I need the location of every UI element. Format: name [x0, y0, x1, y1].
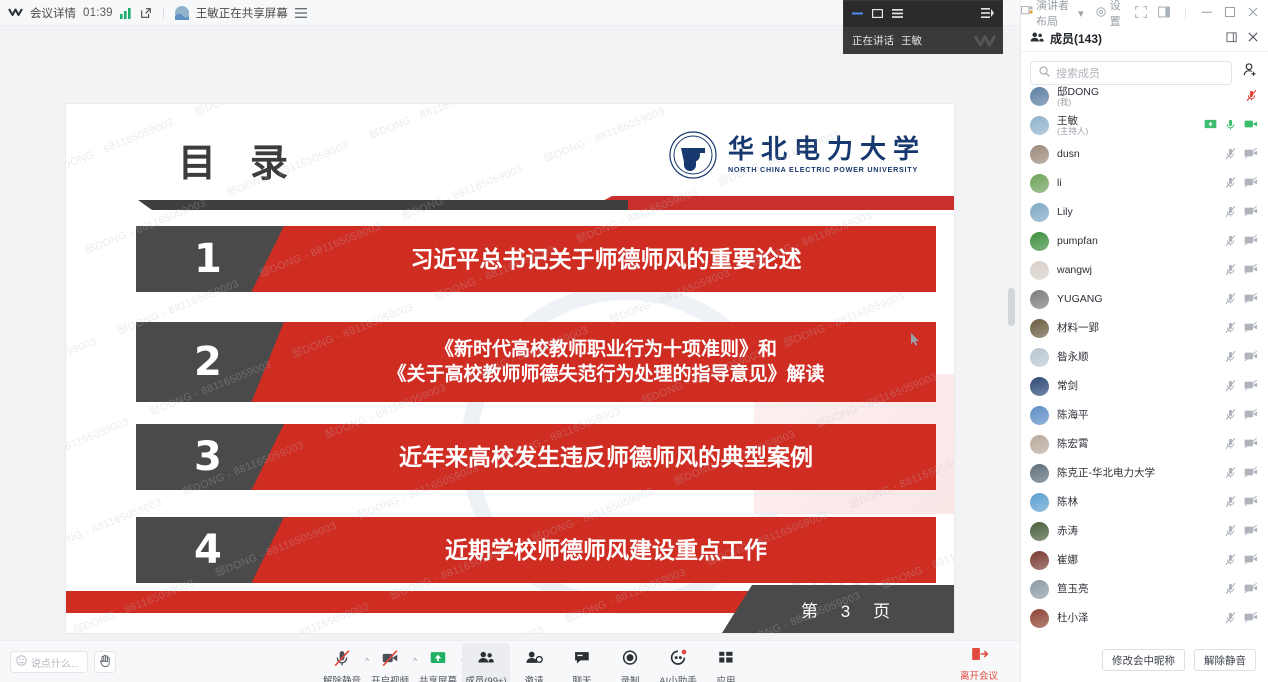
participant-row[interactable]: YUGANG [1021, 285, 1268, 314]
camera-icon[interactable] [1244, 379, 1258, 394]
microphone-icon[interactable] [1224, 495, 1237, 511]
participant-name: li [1057, 177, 1062, 189]
camera-icon[interactable] [1244, 466, 1258, 481]
tool-record-label: 录制 [620, 673, 639, 682]
participant-status-icons [1224, 495, 1258, 511]
speaking-status-label: 正在讲话 [852, 33, 894, 48]
participant-row[interactable]: 陈克正-华北电力大学 [1021, 459, 1268, 488]
maximize-icon[interactable] [872, 7, 883, 21]
raise-hand-icon [99, 654, 111, 670]
title-underline-dark [138, 200, 628, 210]
toc-item-2: 《新时代高校教师职业行为十项准则》和 《关于高校教师师德失范行为处理的指导意见》… [136, 322, 936, 402]
unmute-button[interactable]: 解除静音 [1194, 649, 1256, 671]
leave-meeting-button[interactable]: 离开会议 [952, 645, 1006, 682]
participant-name: 邸DONG [1057, 86, 1099, 98]
camera-icon[interactable] [1244, 176, 1258, 191]
participant-name-block: Lily [1057, 206, 1073, 218]
settings-button[interactable]: 设置 [1095, 0, 1125, 29]
participant-status-icons [1245, 89, 1258, 105]
participant-name-block: YUGANG [1057, 293, 1103, 305]
camera-off-icon [380, 648, 400, 671]
say-something-placeholder: 说点什么... [31, 655, 79, 670]
microphone-icon[interactable] [1224, 582, 1237, 598]
title-underline-red [586, 196, 954, 210]
record-circle-icon [620, 648, 640, 671]
participant-status-icons [1224, 611, 1258, 627]
floating-speaker-window[interactable]: 正在讲话 王敏 [843, 0, 1003, 54]
participant-status-icons [1224, 147, 1258, 163]
participant-status-icons [1224, 205, 1258, 221]
tool-apps-label: 应用 [716, 673, 735, 682]
avatar [1030, 435, 1049, 454]
microphone-icon[interactable] [1224, 234, 1237, 250]
avatar [1030, 203, 1049, 222]
side-panel-icon[interactable] [1158, 6, 1170, 21]
speaker-layout-label: 演讲者布局 [1036, 0, 1075, 29]
participant-name: 材料一郢 [1057, 322, 1099, 334]
participant-status-icons [1224, 263, 1258, 279]
participant-name-block: 崔娜 [1057, 554, 1078, 566]
slide-title: 目录 [178, 132, 322, 187]
participant-name: Lily [1057, 206, 1073, 218]
participant-status-icons [1204, 118, 1258, 134]
participant-name-block: 邸DONG(我) [1057, 86, 1099, 108]
microphone-icon[interactable] [1224, 292, 1237, 308]
microphone-icon[interactable] [1224, 611, 1237, 627]
camera-icon[interactable] [1244, 611, 1258, 626]
participant-status-icons [1224, 553, 1258, 569]
camera-icon[interactable] [1244, 495, 1258, 510]
participant-name: 笪玉亮 [1057, 583, 1089, 595]
participant-name-block: dusn [1057, 148, 1080, 160]
participant-name-block: 杜小泽 [1057, 612, 1089, 624]
participant-status-icons [1224, 234, 1258, 250]
microphone-icon[interactable] [1224, 321, 1237, 337]
toc-item-1-bar: 习近平总书记关于师德师风的重要论述 [246, 226, 936, 292]
participant-name: 常剑 [1057, 380, 1078, 392]
participant-row[interactable]: 杜小泽 [1021, 604, 1268, 633]
avatar-icon [175, 6, 189, 20]
smiley-icon [16, 655, 27, 669]
tool-invite[interactable]: 邀请 [510, 643, 558, 682]
microphone-icon[interactable] [1224, 408, 1237, 424]
meeting-timer: 01:39 [83, 7, 113, 19]
participant-name: 陈林 [1057, 496, 1078, 508]
toc-item-1-line-1: 习近平总书记关于师德师风的重要论述 [411, 244, 802, 274]
chat-bubble-icon [572, 648, 592, 671]
microphone-icon[interactable] [1224, 176, 1237, 192]
avatar [1030, 609, 1049, 628]
search-icon [1039, 66, 1050, 80]
screen-share-icon [428, 648, 448, 671]
camera-icon[interactable] [1244, 553, 1258, 568]
toc-item-1: 习近平总书记关于师德师风的重要论述 1 [136, 226, 936, 292]
presentation-slide[interactable]: 1958 目录 华北电力大学 NORTH CHINA ELECTRIC POWE… [66, 104, 954, 633]
university-name-en: NORTH CHINA ELECTRIC POWER UNIVERSITY [728, 165, 926, 174]
toc-item-2-line-1: 《新时代高校教师职业行为十项准则》和 [435, 337, 777, 362]
tencent-meeting-icon [974, 32, 996, 51]
avatar [1030, 580, 1049, 599]
tool-ai-assistant[interactable]: AI小助手 [654, 643, 702, 682]
say-something-input[interactable]: 说点什么... [10, 651, 88, 673]
avatar [1030, 145, 1049, 164]
camera-icon[interactable] [1244, 292, 1258, 307]
camera-icon[interactable] [1244, 118, 1258, 133]
participants-list[interactable]: 邸DONG(我)王敏(主持人)dusnliLilypumpfanwangwjYU… [1021, 82, 1268, 638]
participant-status-icons [1224, 292, 1258, 308]
window-divider [1185, 7, 1186, 19]
shared-screen-stage: 1958 目录 华北电力大学 NORTH CHINA ELECTRIC POWE… [0, 26, 1020, 640]
avatar [1030, 493, 1049, 512]
toc-item-2-line-2: 《关于高校教师师德失范行为处理的指导意见》解读 [387, 362, 824, 387]
popout-panel-icon[interactable] [1226, 31, 1238, 46]
participant-status-icons [1224, 408, 1258, 424]
participant-name-block: 赤涛 [1057, 525, 1078, 537]
avatar [1030, 290, 1049, 309]
participants-count-title: 成员(143) [1050, 30, 1102, 47]
microphone-icon[interactable] [1224, 118, 1237, 134]
camera-icon[interactable] [1244, 321, 1258, 336]
slide-page-number: 第 3 页 [722, 585, 954, 633]
participant-name: 陈克正-华北电力大学 [1057, 467, 1155, 479]
meeting-bottom-toolbar: 说点什么... 解除静音 ^ 开启视频 ^ 共享屏幕 [0, 640, 1020, 682]
avatar [1030, 319, 1049, 338]
avatar [1030, 261, 1049, 280]
microphone-icon[interactable] [1224, 466, 1237, 482]
participant-role: (我) [1057, 98, 1099, 108]
participant-row[interactable]: 陈海平 [1021, 401, 1268, 430]
search-placeholder: 搜索成员 [1056, 65, 1100, 81]
participant-row[interactable]: li [1021, 169, 1268, 198]
tool-ai-assistant-label: AI小助手 [659, 673, 696, 682]
leave-meeting-icon [970, 645, 989, 666]
avatar [1030, 406, 1049, 425]
participant-row[interactable]: 王敏(主持人) [1021, 111, 1268, 140]
participant-name-block: 笪玉亮 [1057, 583, 1089, 595]
rename-button[interactable]: 修改会中昵称 [1102, 649, 1185, 671]
camera-icon[interactable] [1244, 582, 1258, 597]
tool-chat[interactable]: 聊天 [558, 643, 606, 682]
tool-unmute[interactable]: 解除静音 ^ [318, 643, 366, 682]
avatar [1030, 87, 1049, 106]
leave-meeting-label: 离开会议 [960, 668, 998, 682]
avatar [1030, 348, 1049, 367]
avatar [1030, 232, 1049, 251]
stage-scrollbar[interactable] [1008, 288, 1015, 326]
camera-icon[interactable] [1244, 408, 1258, 423]
list-menu-icon[interactable] [295, 8, 307, 18]
participant-name: 陈宏霄 [1057, 438, 1089, 450]
participant-status-icons [1224, 176, 1258, 192]
participant-name: 赤涛 [1057, 525, 1078, 537]
participant-status-icons [1224, 350, 1258, 366]
participant-name: dusn [1057, 148, 1080, 160]
participant-name-block: wangwj [1057, 264, 1092, 276]
participant-status-icons [1224, 466, 1258, 482]
tool-invite-label: 邀请 [524, 673, 543, 682]
apps-grid-icon [716, 648, 736, 671]
microphone-icon[interactable] [1224, 524, 1237, 540]
microphone-icon[interactable] [1224, 553, 1237, 569]
participant-name-block: 陈宏霄 [1057, 438, 1089, 450]
toc-item-4-bar: 近期学校师德师风建设重点工作 [246, 517, 936, 583]
microphone-icon[interactable] [1224, 205, 1237, 221]
camera-icon[interactable] [1244, 350, 1258, 365]
participant-name-block: 陈克正-华北电力大学 [1057, 467, 1155, 479]
participant-row[interactable]: dusn [1021, 140, 1268, 169]
participant-row[interactable]: 赤涛 [1021, 517, 1268, 546]
participant-name-block: 王敏(主持人) [1057, 115, 1088, 137]
participant-status-icons [1224, 582, 1258, 598]
layout-switch-icon[interactable] [981, 7, 994, 21]
close-icon[interactable] [1247, 31, 1259, 46]
participant-name-block: 陈海平 [1057, 409, 1089, 421]
camera-icon[interactable] [1244, 437, 1258, 452]
participant-row[interactable]: wangwj [1021, 256, 1268, 285]
floating-window-titlebar [844, 1, 1002, 27]
participant-name: YUGANG [1057, 293, 1103, 305]
raise-hand-button[interactable] [94, 651, 116, 673]
add-person-icon[interactable] [1243, 62, 1258, 80]
participant-row[interactable]: 笪玉亮 [1021, 575, 1268, 604]
ncepu-crest-icon [668, 130, 718, 180]
participant-name-block: 昝永顺 [1057, 351, 1089, 363]
participants-panel-header: 成员(143) [1021, 26, 1268, 52]
participant-row[interactable]: 材料一郢 [1021, 314, 1268, 343]
participant-name: 昝永顺 [1057, 351, 1089, 363]
tencent-meeting-icon [8, 7, 23, 18]
toc-item-4-line-1: 近期学校师德师风建设重点工作 [445, 535, 767, 565]
tool-participants-label: 成员(99+) [465, 673, 506, 682]
mouse-cursor [911, 333, 920, 349]
toc-item-3-line-1: 近年来高校发生违反师德师风的典型案例 [399, 442, 813, 472]
participant-name-block: 材料一郢 [1057, 322, 1099, 334]
toc-item-3-bar: 近年来高校发生违反师德师风的典型案例 [246, 424, 936, 490]
sharing-status-label: 王敏正在共享屏幕 [196, 5, 288, 21]
participant-row[interactable]: 常剑 [1021, 372, 1268, 401]
participants-icon [476, 648, 496, 671]
participant-name: 陈海平 [1057, 409, 1089, 421]
participant-name: wangwj [1057, 264, 1092, 276]
participant-name-block: 陈林 [1057, 496, 1078, 508]
participants-panel: 演讲者布局 ▾ 设置 成员(143) [1020, 0, 1268, 682]
microphone-icon[interactable] [1224, 379, 1237, 395]
microphone-icon[interactable] [1224, 350, 1237, 366]
meeting-controls: 解除静音 ^ 开启视频 ^ 共享屏幕 ^ 成员(99+) [318, 643, 750, 682]
signal-bars-icon[interactable] [120, 7, 133, 19]
tool-start-video[interactable]: 开启视频 ^ [366, 643, 414, 682]
participant-status-icons [1224, 524, 1258, 540]
invite-person-icon [524, 648, 544, 671]
minimize-icon[interactable] [852, 7, 863, 21]
microphone-icon[interactable] [1224, 437, 1237, 453]
participant-row[interactable]: pumpfan [1021, 227, 1268, 256]
participant-row[interactable]: Lily [1021, 198, 1268, 227]
avatar [1030, 551, 1049, 570]
ai-assistant-icon [668, 648, 688, 671]
participant-name-block: li [1057, 177, 1062, 189]
hamburger-icon[interactable] [892, 7, 903, 21]
speaker-layout-icon [1021, 6, 1033, 20]
gear-icon [1095, 6, 1107, 21]
topbar-divider [163, 7, 164, 19]
meeting-details-label[interactable]: 会议详情 [30, 5, 76, 21]
camera-icon[interactable] [1244, 524, 1258, 539]
tool-record[interactable]: 录制 [606, 643, 654, 682]
camera-icon[interactable] [1244, 263, 1258, 278]
participant-name-block: pumpfan [1057, 235, 1098, 247]
participant-row[interactable]: 陈林 [1021, 488, 1268, 517]
participant-status-icons [1224, 321, 1258, 337]
window-control-bar: 演讲者布局 ▾ 设置 [1021, 0, 1268, 26]
camera-icon[interactable] [1244, 147, 1258, 162]
window-close-icon[interactable] [1247, 6, 1259, 21]
window-maximize-icon[interactable] [1224, 6, 1236, 21]
tool-share-screen[interactable]: 共享屏幕 ^ [414, 643, 462, 682]
tool-participants[interactable]: 成员(99+) [462, 643, 510, 682]
avatar [1030, 116, 1049, 135]
tool-unmute-label: 解除静音 [323, 673, 361, 682]
toc-item-3: 近年来高校发生违反师德师风的典型案例 3 [136, 424, 936, 490]
participant-name: 王敏 [1057, 115, 1088, 127]
fullscreen-icon[interactable] [1135, 6, 1147, 21]
camera-icon[interactable] [1244, 205, 1258, 220]
microphone-icon[interactable] [1224, 263, 1237, 279]
toc-item-4: 近期学校师德师风建设重点工作 4 [136, 517, 936, 583]
external-link-icon[interactable] [140, 7, 152, 19]
participant-row[interactable]: 昝永顺 [1021, 343, 1268, 372]
toc-item-2-bar: 《新时代高校教师职业行为十项准则》和 《关于高校教师师德失范行为处理的指导意见》… [246, 322, 936, 402]
participant-name: 崔娜 [1057, 554, 1078, 566]
avatar [1030, 377, 1049, 396]
participant-role: (主持人) [1057, 127, 1088, 137]
avatar [1030, 464, 1049, 483]
chevron-down-icon: ▾ [1078, 7, 1084, 20]
participants-panel-footer: 修改会中昵称 解除静音 [1021, 638, 1268, 682]
tool-apps[interactable]: 应用 [702, 643, 750, 682]
speaker-layout-button[interactable]: 演讲者布局 ▾ [1021, 0, 1084, 29]
tool-chat-label: 聊天 [572, 673, 591, 682]
avatar [1030, 174, 1049, 193]
tool-start-video-label: 开启视频 [371, 673, 409, 682]
tool-share-screen-label: 共享屏幕 [419, 673, 457, 682]
participant-row[interactable]: 邸DONG(我) [1021, 82, 1268, 111]
floating-window-speaker-strip: 正在讲话 王敏 [844, 27, 1002, 54]
camera-icon[interactable] [1244, 234, 1258, 249]
participants-group-icon [1030, 31, 1044, 46]
university-logo: 华北电力大学 NORTH CHINA ELECTRIC POWER UNIVER… [668, 130, 926, 180]
participant-row[interactable]: 崔娜 [1021, 546, 1268, 575]
window-minimize-icon[interactable] [1201, 6, 1213, 21]
participant-name: pumpfan [1057, 235, 1098, 247]
participant-status-icons [1224, 437, 1258, 453]
avatar [1030, 522, 1049, 541]
microphone-muted-icon [332, 648, 352, 671]
speaker-name-label: 王敏 [901, 33, 922, 48]
microphone-icon[interactable] [1245, 89, 1258, 105]
university-name-cn: 华北电力大学 [728, 136, 926, 165]
microphone-icon[interactable] [1224, 147, 1237, 163]
participant-status-icons [1224, 379, 1258, 395]
participant-name: 杜小泽 [1057, 612, 1089, 624]
settings-label: 设置 [1110, 0, 1125, 29]
participant-row[interactable]: 陈宏霄 [1021, 430, 1268, 459]
participant-name-block: 常剑 [1057, 380, 1078, 392]
screen-share-icon [1204, 119, 1217, 133]
